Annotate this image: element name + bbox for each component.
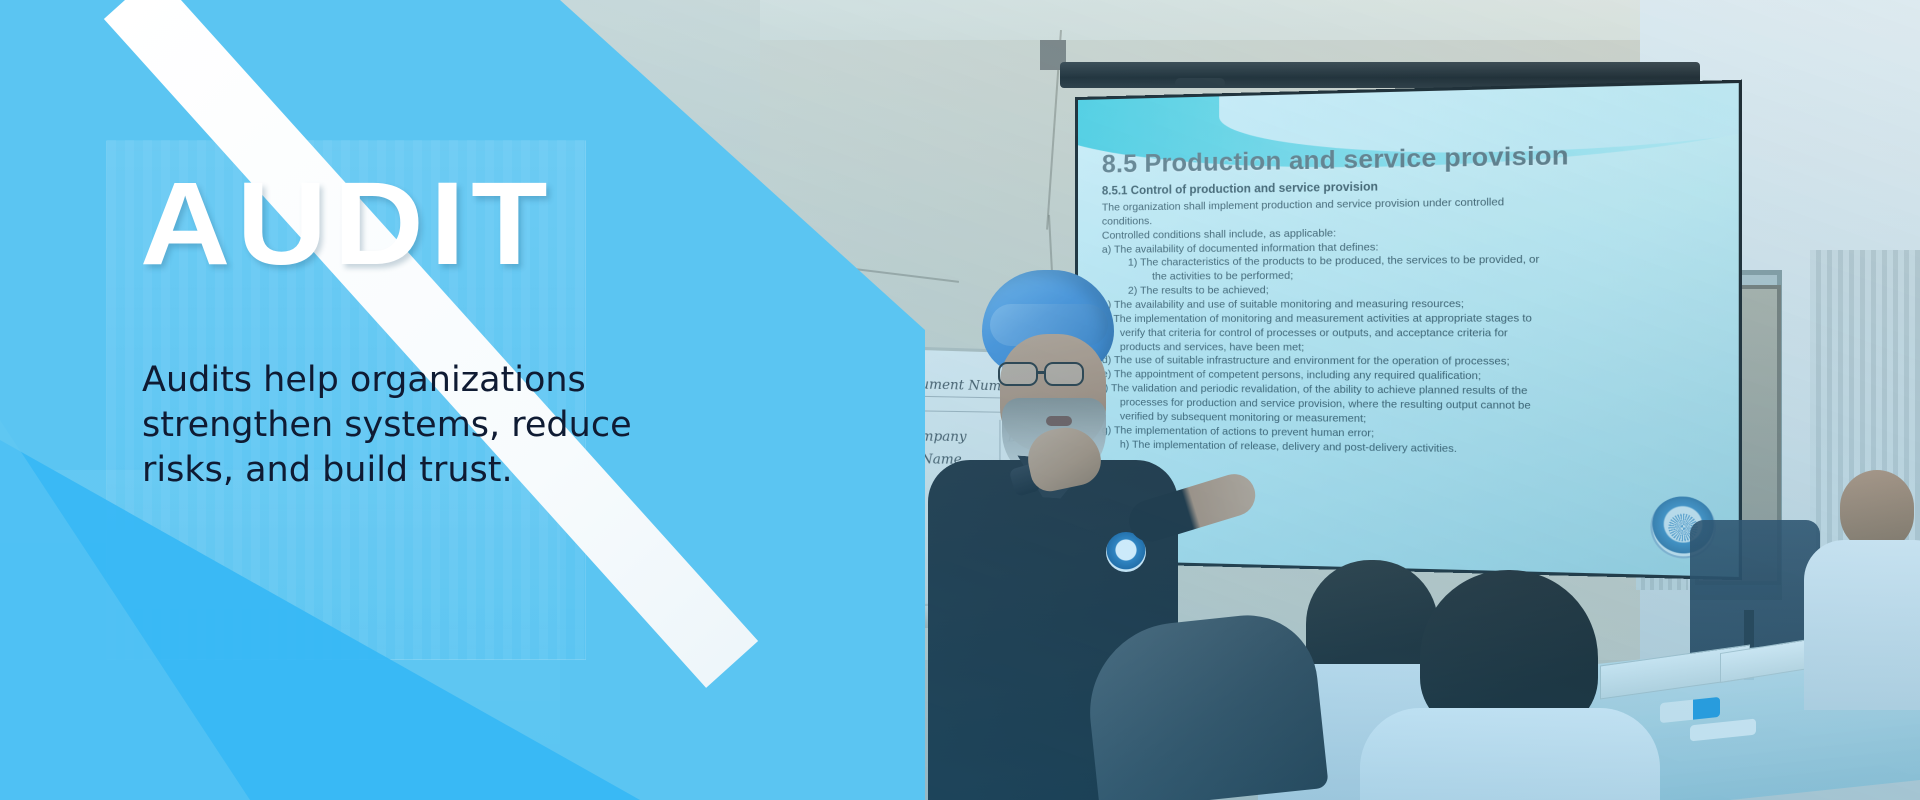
office-chair: [1690, 520, 1820, 660]
participant-shirt: [1804, 540, 1920, 710]
participant: [1810, 470, 1920, 710]
eyeglasses-icon: [998, 362, 1038, 386]
subheadline-text: Audits help organizations strengthen sys…: [142, 358, 682, 492]
presenter-mouth: [1046, 416, 1072, 426]
audit-hero-banner: 8.5 Production and service provision 8.5…: [0, 0, 1920, 800]
eyeglasses-icon: [1044, 362, 1084, 386]
eyeglasses-bridge: [1038, 371, 1046, 374]
screen-pull-knob: [1175, 78, 1225, 88]
participant-shirt: [1360, 708, 1660, 800]
page-title: AUDIT: [140, 165, 554, 283]
projector-screen-roller: [1060, 62, 1700, 88]
participant: [1400, 570, 1650, 800]
